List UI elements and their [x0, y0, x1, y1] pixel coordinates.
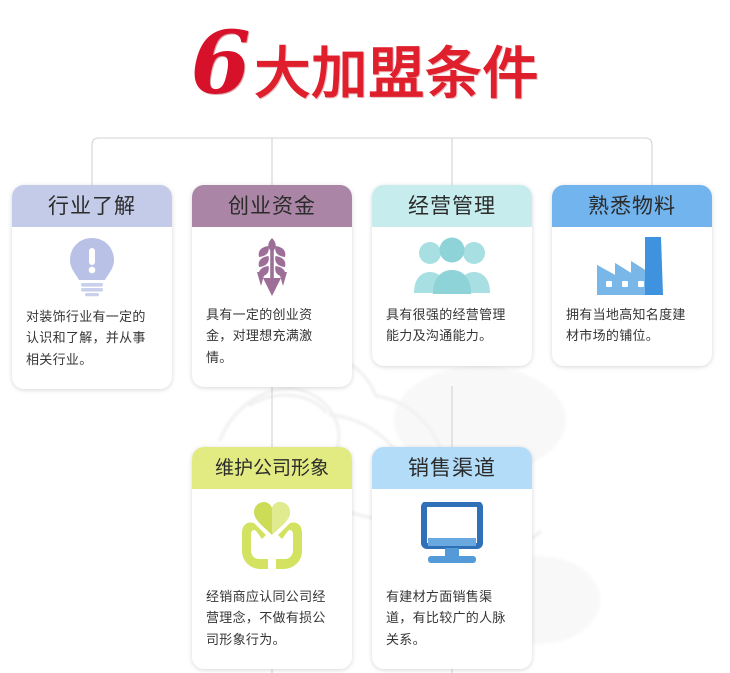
- condition-card-startup-capital[interactable]: 创业资金 具有一定的创业资金，对理想充满激情。: [192, 185, 352, 387]
- card-header: 行业了解: [12, 185, 172, 227]
- card-body: 经销商应认同公司经营理念，不做有损公司形象行为。: [192, 581, 352, 669]
- factory-icon: [552, 227, 712, 305]
- card-body: 拥有当地高知名度建材市场的铺位。: [552, 305, 712, 366]
- condition-card-material-familiarity[interactable]: 熟悉物料 拥有当地高知名度建材市场的铺位。: [552, 185, 712, 366]
- card-body: 有建材方面销售渠道，有比较广的人脉关系。: [372, 581, 532, 669]
- condition-card-brand-image[interactable]: 维护公司形象 经销商应认同公司经营理念，不做有损公司形象行为。: [192, 447, 352, 669]
- monitor-icon: [372, 489, 532, 581]
- card-body: 具有一定的创业资金，对理想充满激情。: [192, 305, 352, 387]
- people-group-icon: [372, 227, 532, 305]
- card-body: 对装饰行业有一定的认识和了解，并从事相关行业。: [12, 305, 172, 389]
- card-body: 具有很强的经营管理能力及沟通能力。: [372, 305, 532, 366]
- card-header: 经营管理: [372, 185, 532, 227]
- lightbulb-icon: [12, 227, 172, 305]
- card-header: 熟悉物料: [552, 185, 712, 227]
- condition-card-industry-knowledge[interactable]: 行业了解 对装饰行业有一定的认识和了解，并从事相关行业。: [12, 185, 172, 389]
- condition-card-sales-channel[interactable]: 销售渠道 有建材方面销售渠道，有比较广的人脉关系。: [372, 447, 532, 669]
- card-header: 销售渠道: [372, 447, 532, 489]
- title-number: 6: [191, 21, 249, 107]
- title-inner: 6 大加盟条件: [191, 21, 540, 107]
- condition-card-management[interactable]: 经营管理 具有很强的经营管理能力及沟通能力。: [372, 185, 532, 366]
- card-header: 维护公司形象: [192, 447, 352, 489]
- wheat-icon: [192, 227, 352, 305]
- hands-heart-icon: [192, 489, 352, 581]
- title-text: 大加盟条件: [254, 47, 539, 103]
- card-header: 创业资金: [192, 185, 352, 227]
- page-title: 6 大加盟条件: [0, 0, 730, 120]
